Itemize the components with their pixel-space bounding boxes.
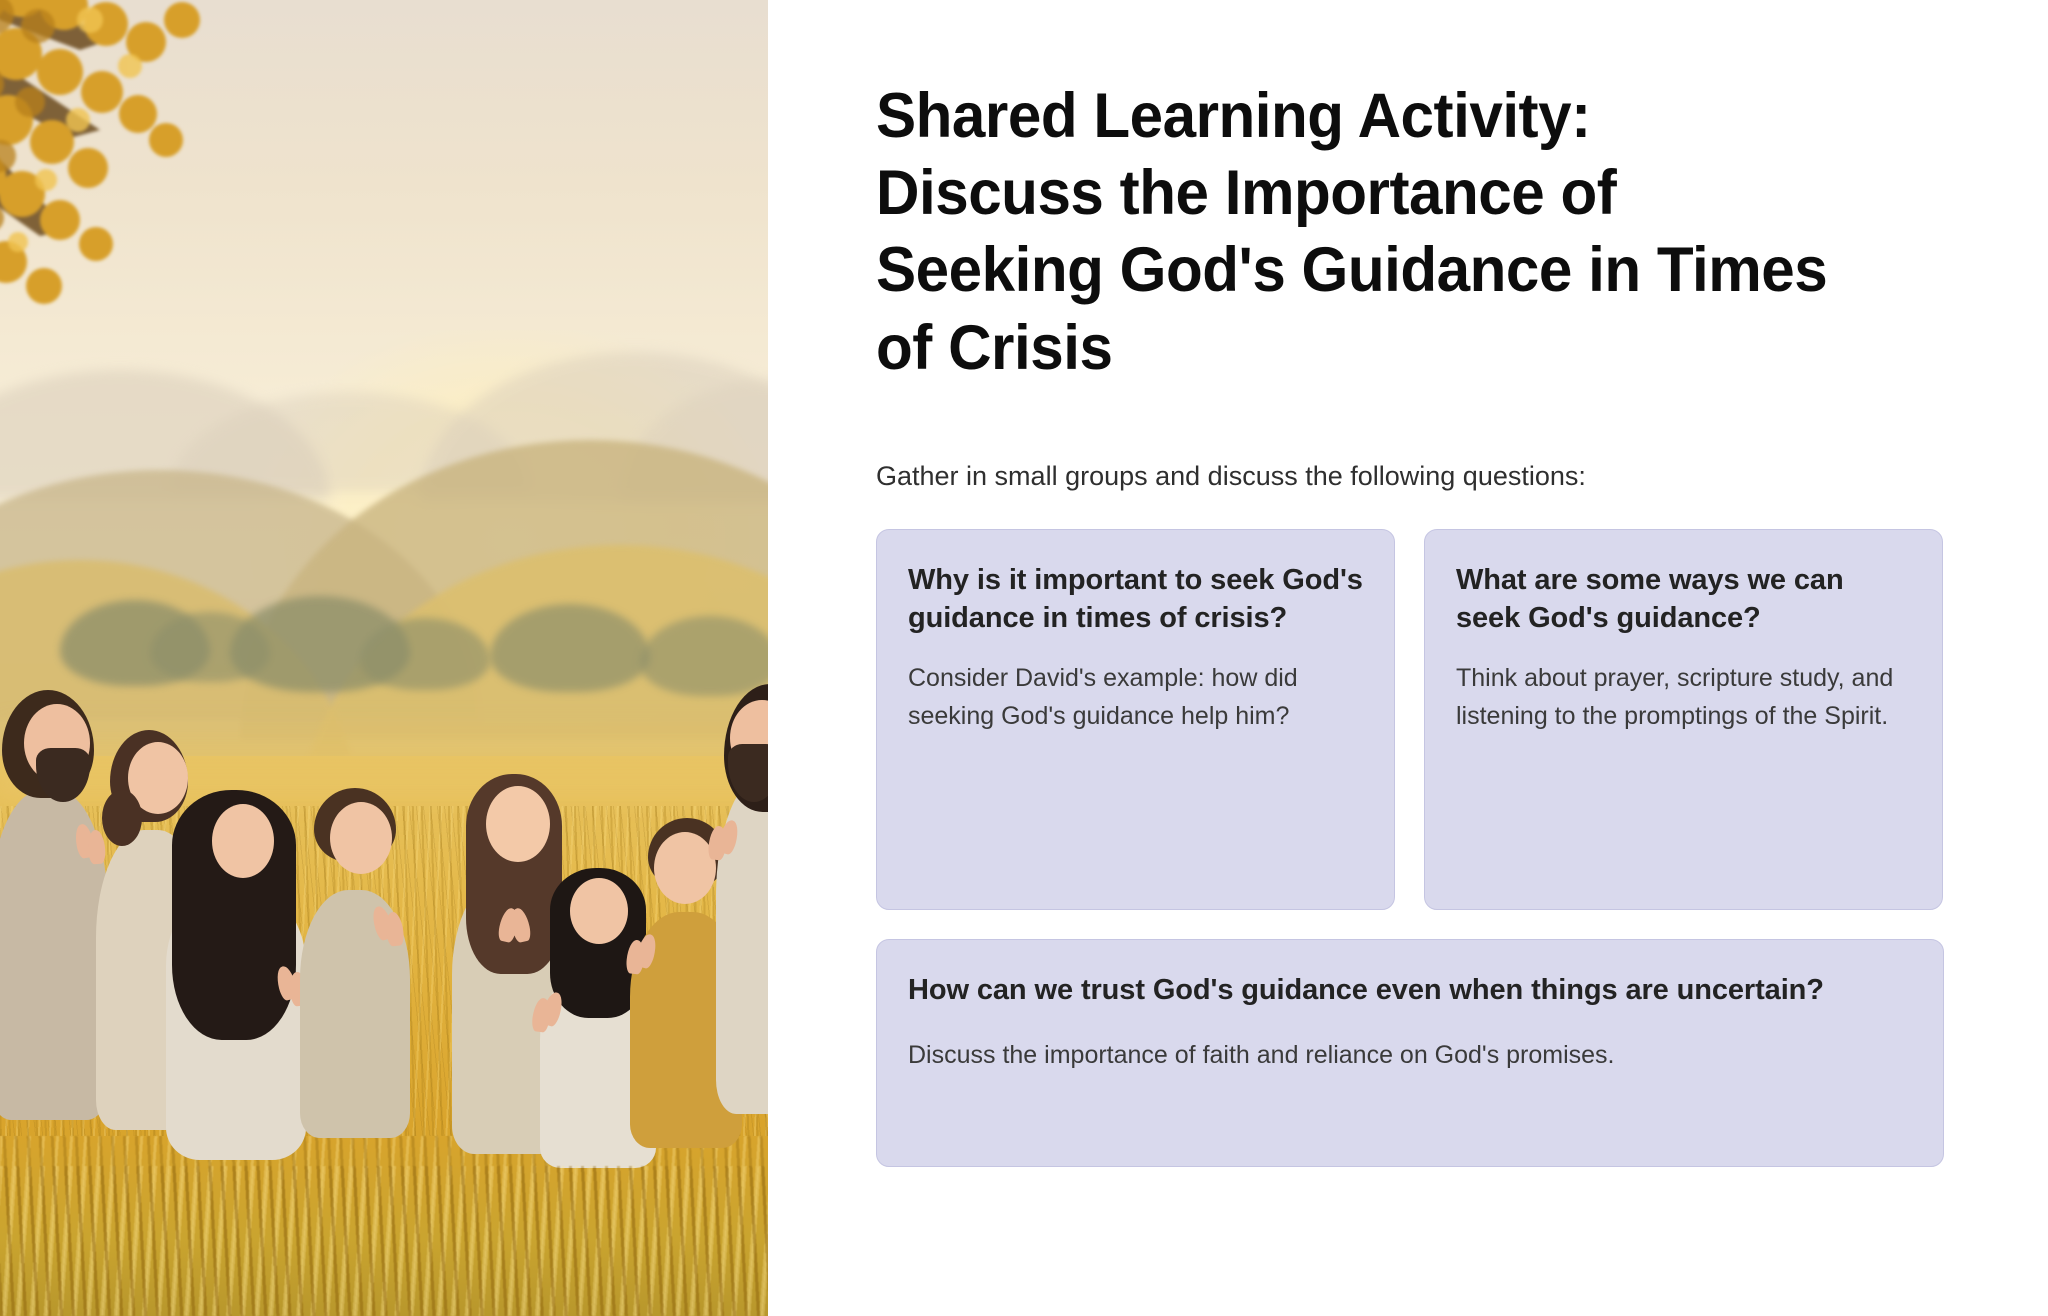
question-card-1-heading: Why is it important to seek God's guidan…: [908, 562, 1363, 637]
question-card-3-heading: How can we trust God's guidance even whe…: [908, 972, 1912, 1010]
illustration-panel: [0, 0, 768, 1316]
content-panel: Shared Learning Activity: Discuss the Im…: [768, 0, 2048, 1316]
question-card-3[interactable]: How can we trust God's guidance even whe…: [876, 939, 1944, 1167]
autumn-tree-icon: [0, 0, 380, 410]
question-card-1-body: Consider David's example: how did seekin…: [908, 659, 1363, 735]
figure-adult-right: [716, 684, 768, 1114]
foreground-grass: [0, 1166, 768, 1316]
figure-boy-curly: [300, 788, 418, 1138]
question-card-2-heading: What are some ways we can seek God's gui…: [1456, 562, 1911, 637]
slide-root: Shared Learning Activity: Discuss the Im…: [0, 0, 2048, 1316]
figure-girl-longhair: [166, 790, 316, 1160]
question-card-1[interactable]: Why is it important to seek God's guidan…: [876, 529, 1395, 910]
question-card-2[interactable]: What are some ways we can seek God's gui…: [1424, 529, 1943, 910]
question-card-grid: Why is it important to seek God's guidan…: [876, 529, 1944, 1167]
question-card-3-body: Discuss the importance of faith and reli…: [908, 1036, 1912, 1074]
page-title: Shared Learning Activity: Discuss the Im…: [876, 78, 1831, 387]
question-card-2-body: Think about prayer, scripture study, and…: [1456, 659, 1911, 735]
intro-text: Gather in small groups and discuss the f…: [876, 457, 1944, 496]
